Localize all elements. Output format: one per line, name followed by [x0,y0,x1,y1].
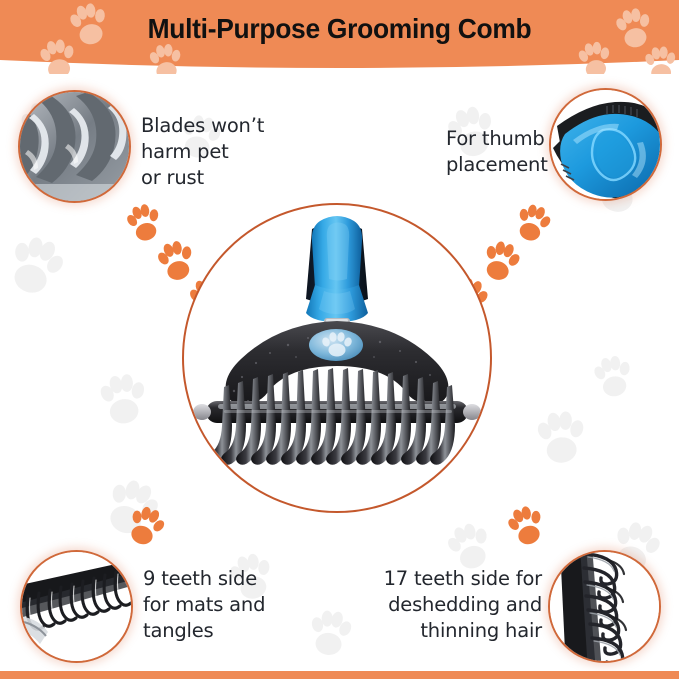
feature-label-thumb: For thumb placement [446,126,586,178]
paw-trail-bottom-right [495,500,555,550]
infographic-canvas: Multi-Purpose Grooming Comb [0,0,679,679]
footer-bar [0,671,679,679]
grooming-comb-product-image [184,205,490,511]
feature-label-seventeen-teeth: 17 teeth side for deshedding and thinnin… [380,566,542,644]
page-title: Multi-Purpose Grooming Comb [14,13,666,45]
feature-label-blades: Blades won’t harm pet or rust [141,113,281,191]
header-banner: Multi-Purpose Grooming Comb [0,0,679,74]
blade-closeup-photo [20,92,131,203]
blade-closeup-inset [18,90,131,203]
nine-teeth-closeup-photo [22,552,133,663]
product-hero-circle [182,203,492,513]
feature-label-nine-teeth: 9 teeth side for mats and tangles [143,566,303,644]
seventeen-teeth-closeup-inset [548,550,661,663]
seventeen-teeth-closeup-photo [550,552,661,663]
nine-teeth-closeup-inset [20,550,133,663]
paw-trail-bottom-left-outer [115,518,175,568]
